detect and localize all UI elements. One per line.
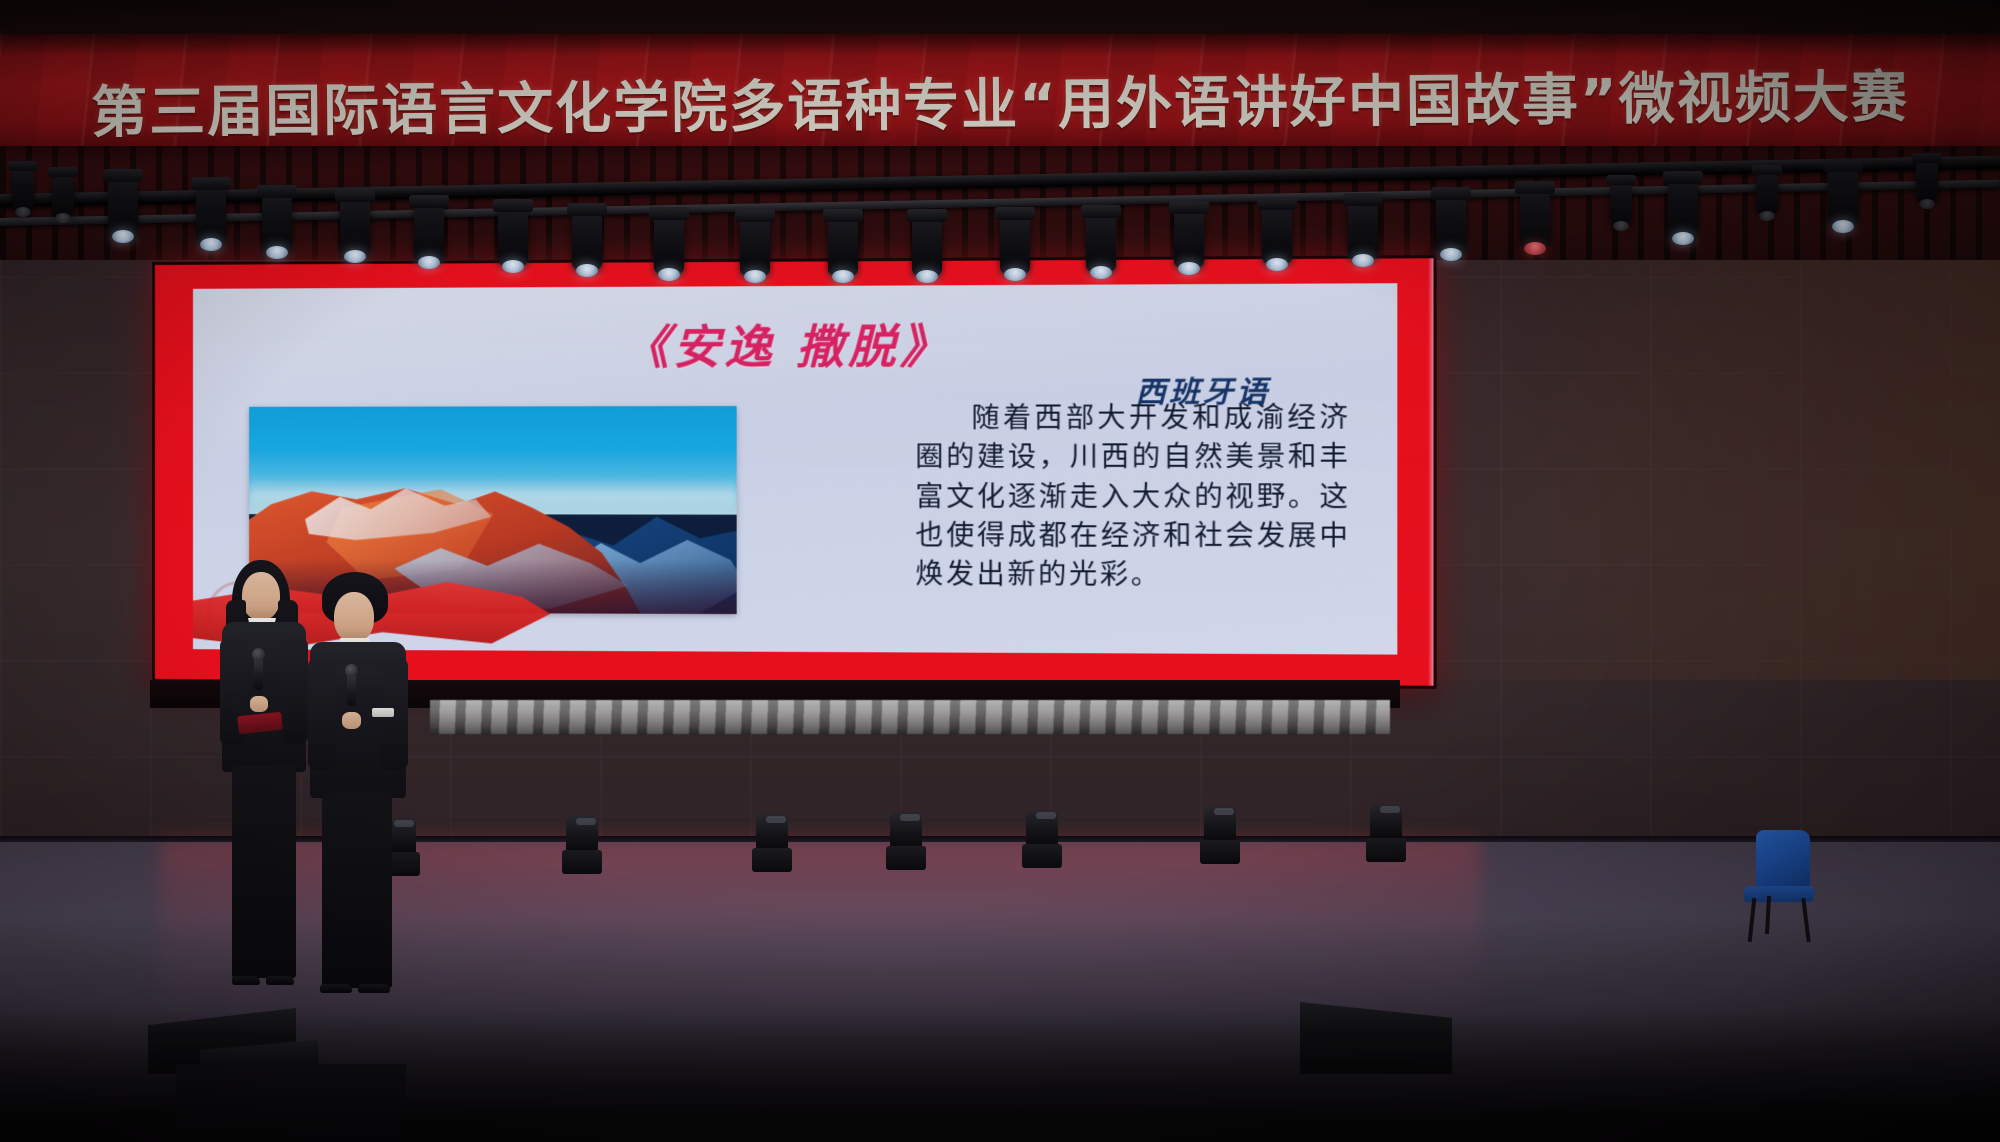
stage-spotlight-icon xyxy=(1174,210,1204,268)
stage-spotlight-icon xyxy=(1756,174,1778,214)
presenter-trousers xyxy=(322,792,392,988)
presenter-shoe xyxy=(232,976,260,985)
stage-spotlight-icon xyxy=(828,218,858,276)
stage-skirt-panel xyxy=(430,700,1390,734)
stage-photograph: 第三届国际语言文化学院多语种专业“用外语讲好中国故事”微视频大赛 xyxy=(0,0,2000,1142)
stage-spotlight-icon xyxy=(12,170,34,210)
stage-spotlight-icon xyxy=(1916,162,1938,202)
stage-spotlight-icon xyxy=(52,176,74,216)
presenter-male-right xyxy=(300,572,416,1002)
presenter-shoe xyxy=(358,984,390,993)
presenter-shoe xyxy=(320,984,352,993)
stage-spotlight-icon xyxy=(262,194,292,252)
stage-front-riser xyxy=(176,1064,406,1142)
presenter-arm-left xyxy=(308,658,336,770)
stage-spotlight-icon xyxy=(1828,168,1858,226)
chair-leg xyxy=(1748,898,1757,942)
presenter-trousers xyxy=(232,766,296,978)
stage-spotlight-icon xyxy=(108,178,138,236)
stage-spotlight-icon xyxy=(1520,190,1550,248)
presenter-hand xyxy=(250,696,268,712)
stage-spotlight-icon xyxy=(912,218,942,276)
presenter-shoe xyxy=(266,976,294,985)
stage-spotlight-icon xyxy=(1262,206,1292,264)
chair-leg xyxy=(1765,896,1771,934)
moving-head-light xyxy=(752,814,792,872)
stage-spotlight-icon xyxy=(1348,202,1378,260)
red-event-banner: 第三届国际语言文化学院多语种专业“用外语讲好中国故事”微视频大赛 xyxy=(0,34,2000,146)
stage-spotlight-icon xyxy=(414,204,444,262)
handheld-microphone-icon xyxy=(254,656,263,690)
handheld-microphone-icon xyxy=(347,672,356,706)
stage-spotlight-icon xyxy=(740,218,770,276)
stage-spotlight-icon xyxy=(1610,184,1632,224)
moving-head-light xyxy=(1366,804,1406,862)
presenter-head xyxy=(334,592,374,642)
stage-spotlight-icon xyxy=(1000,216,1030,274)
stage-spotlight-icon xyxy=(1086,214,1116,272)
slide-body-text: 随着西部大开发和成渝经济圈的建设，川西的自然美景和丰富文化逐渐走入大众的视野。这… xyxy=(915,399,1350,596)
moving-head-light xyxy=(1022,810,1062,868)
chair-leg xyxy=(1801,898,1810,942)
blue-side-chair[interactable] xyxy=(1742,830,1816,940)
stage-spotlight-icon xyxy=(1668,180,1698,238)
stage-spotlight-icon xyxy=(196,186,226,244)
presenter-pocket-square xyxy=(372,708,394,717)
overhead-lighting-truss xyxy=(0,160,2000,310)
moving-head-light xyxy=(1200,806,1240,864)
presenter-hand xyxy=(342,712,361,729)
banner-title-text: 第三届国际语言文化学院多语种专业“用外语讲好中国故事”微视频大赛 xyxy=(0,51,2000,146)
stage-spotlight-icon xyxy=(340,198,370,256)
stage-spotlight-icon xyxy=(572,212,602,270)
moving-head-light xyxy=(886,812,926,870)
moving-head-light xyxy=(562,816,602,874)
chair-backrest xyxy=(1756,830,1810,892)
presenter-head xyxy=(242,572,280,620)
stage-spotlight-icon xyxy=(654,216,684,274)
stage-spotlight-icon xyxy=(498,208,528,266)
stage-spotlight-icon xyxy=(1436,196,1466,254)
